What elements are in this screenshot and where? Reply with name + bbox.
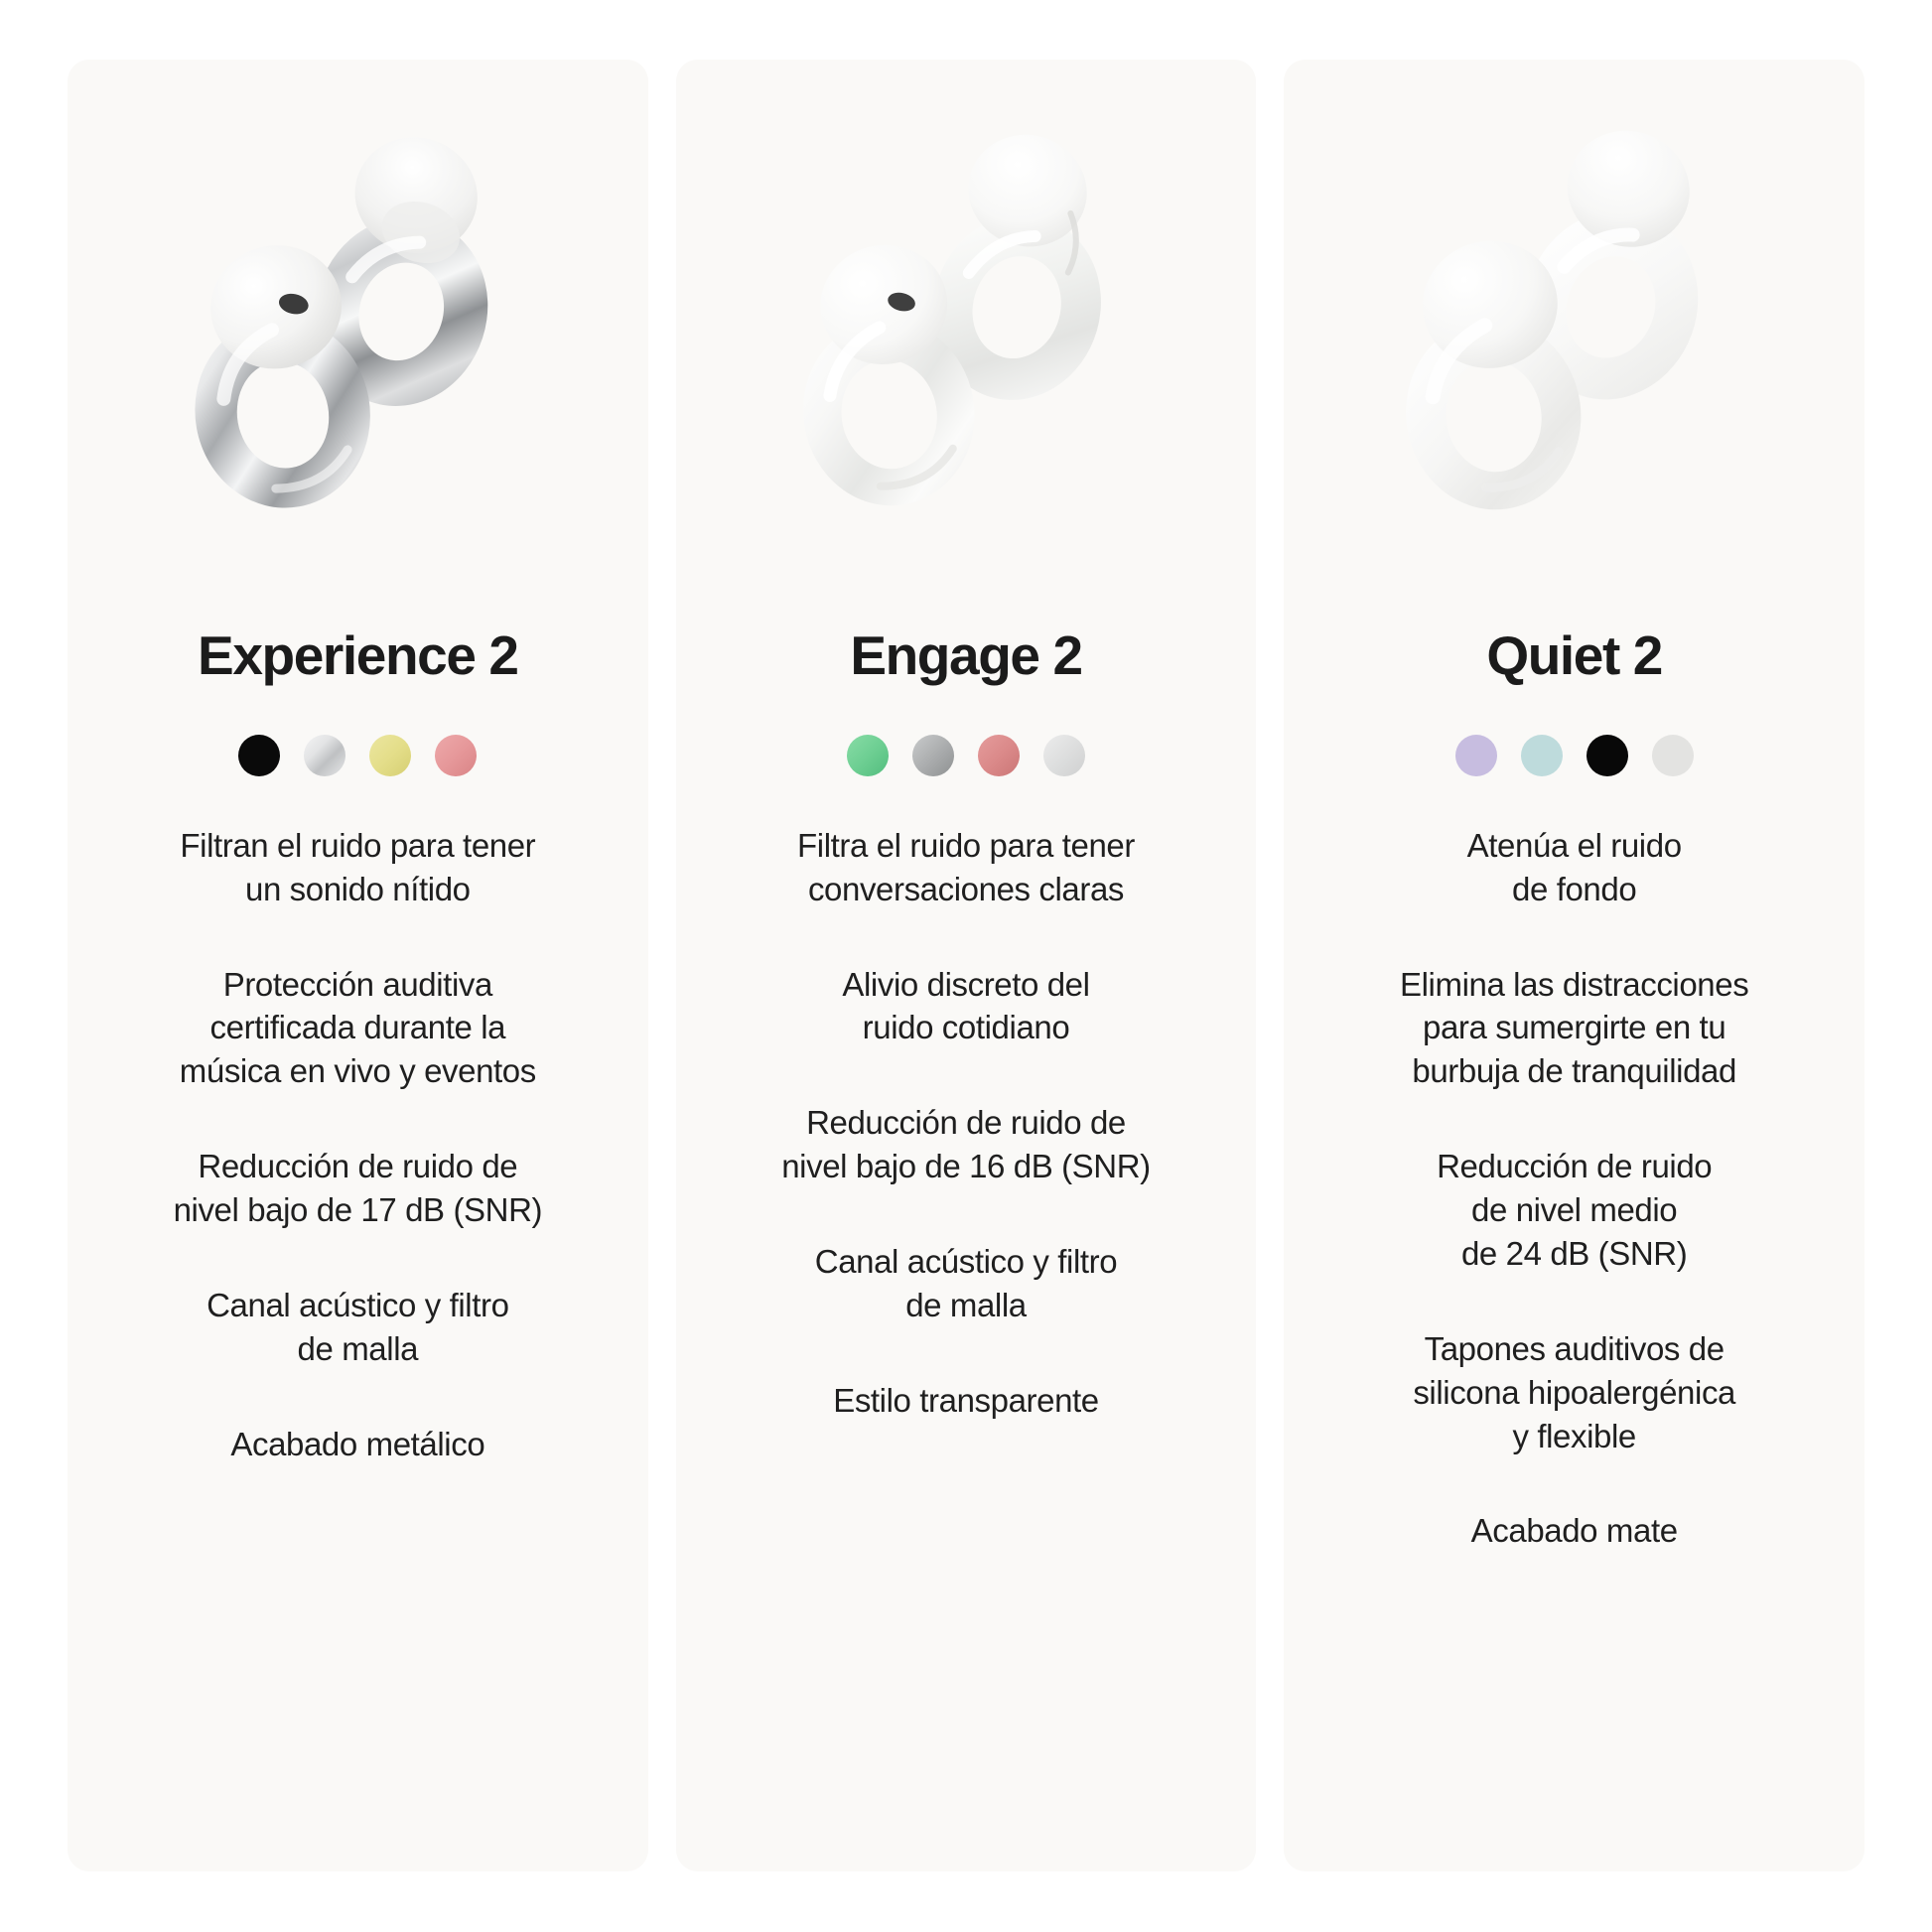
color-swatch-black[interactable] (1587, 735, 1628, 776)
feature-item: Tapones auditivos de silicona hipoalergé… (1413, 1327, 1735, 1458)
color-swatch-black[interactable] (238, 735, 280, 776)
feature-item: Atenúa el ruido de fondo (1467, 824, 1682, 911)
feature-list: Filtran el ruido para tener un sonido ní… (68, 824, 648, 1466)
product-title: Experience 2 (198, 627, 518, 685)
earplugs-matte-white-icon (1366, 99, 1783, 556)
color-swatch-row (238, 735, 477, 776)
earplugs-metallic-silver-icon (149, 99, 566, 556)
feature-item: Estilo transparente (833, 1379, 1099, 1423)
product-title: Engage 2 (850, 627, 1081, 685)
product-title: Quiet 2 (1486, 627, 1662, 685)
color-swatch-silver[interactable] (304, 735, 345, 776)
feature-item: Filtran el ruido para tener un sonido ní… (180, 824, 535, 911)
color-swatch-gray[interactable] (912, 735, 954, 776)
color-swatch-off-white[interactable] (1652, 735, 1694, 776)
product-card-engage-2[interactable]: Engage 2 Filtra el ruido para tener conv… (676, 60, 1257, 1871)
color-swatch-row (1455, 735, 1694, 776)
product-comparison-grid: Experience 2 Filtran el ruido para tener… (0, 0, 1932, 1932)
feature-item: Elimina las distracciones para sumergirt… (1400, 963, 1748, 1094)
feature-item: Filtra el ruido para tener conversacione… (797, 824, 1135, 911)
feature-item: Canal acústico y filtro de malla (207, 1284, 508, 1371)
feature-list: Filtra el ruido para tener conversacione… (676, 824, 1257, 1423)
product-image-quiet-2 (1284, 60, 1864, 616)
feature-item: Canal acústico y filtro de malla (815, 1240, 1117, 1327)
color-swatch-lavender[interactable] (1455, 735, 1497, 776)
product-card-quiet-2[interactable]: Quiet 2 Atenúa el ruido de fondo Elimina… (1284, 60, 1864, 1871)
feature-item: Acabado mate (1471, 1509, 1678, 1553)
product-image-engage-2 (676, 60, 1257, 616)
product-card-experience-2[interactable]: Experience 2 Filtran el ruido para tener… (68, 60, 648, 1871)
color-swatch-light-gray[interactable] (1043, 735, 1085, 776)
feature-item: Acabado metálico (230, 1423, 484, 1466)
feature-item: Reducción de ruido de nivel bajo de 16 d… (781, 1101, 1151, 1188)
color-swatch-red[interactable] (978, 735, 1020, 776)
feature-item: Reducción de ruido de nivel bajo de 17 d… (174, 1145, 543, 1232)
earplugs-transparent-clear-icon (758, 99, 1174, 556)
feature-item: Reducción de ruido de nivel medio de 24 … (1437, 1145, 1712, 1276)
feature-item: Alivio discreto del ruido cotidiano (842, 963, 1089, 1050)
color-swatch-row (847, 735, 1085, 776)
color-swatch-light-blue[interactable] (1521, 735, 1563, 776)
color-swatch-yellow[interactable] (369, 735, 411, 776)
color-swatch-green[interactable] (847, 735, 889, 776)
product-image-experience-2 (68, 60, 648, 616)
feature-item: Protección auditiva certificada durante … (180, 963, 536, 1094)
feature-list: Atenúa el ruido de fondo Elimina las dis… (1284, 824, 1864, 1554)
color-swatch-pink[interactable] (435, 735, 477, 776)
